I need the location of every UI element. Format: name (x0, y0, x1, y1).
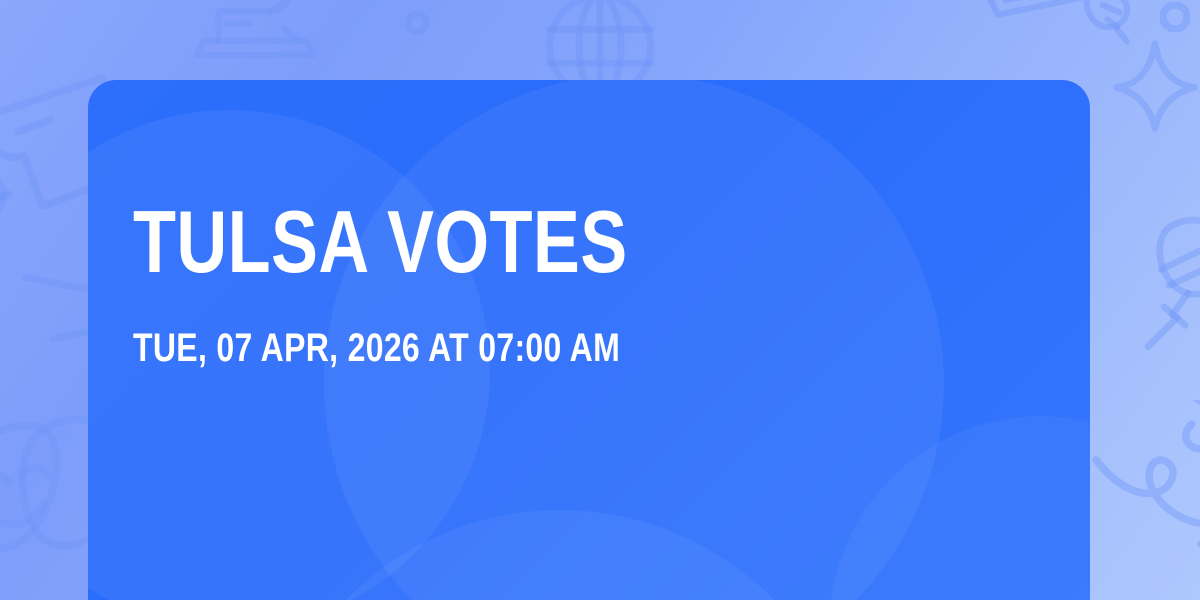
dot-icon (1160, 2, 1190, 32)
ribbon-swirl-icon (1090, 400, 1200, 600)
podium-icon (180, 0, 330, 60)
guitar-icon (980, 0, 1140, 61)
event-title: TULSA VOTES (133, 200, 821, 284)
sparkle-icon (1110, 36, 1200, 136)
event-card[interactable]: TULSA VOTES TUE, 07 APR, 2026 AT 07:00 A… (88, 80, 1090, 600)
confetti-dash-icon (20, 268, 90, 298)
dot-icon (404, 10, 430, 36)
event-card-text-block: TULSA VOTES TUE, 07 APR, 2026 AT 07:00 A… (133, 200, 993, 368)
event-banner: TULSA VOTES TUE, 07 APR, 2026 AT 07:00 A… (0, 0, 1200, 600)
event-datetime: TUE, 07 APR, 2026 AT 07:00 AM (133, 328, 821, 368)
microphone-icon (1132, 210, 1200, 350)
